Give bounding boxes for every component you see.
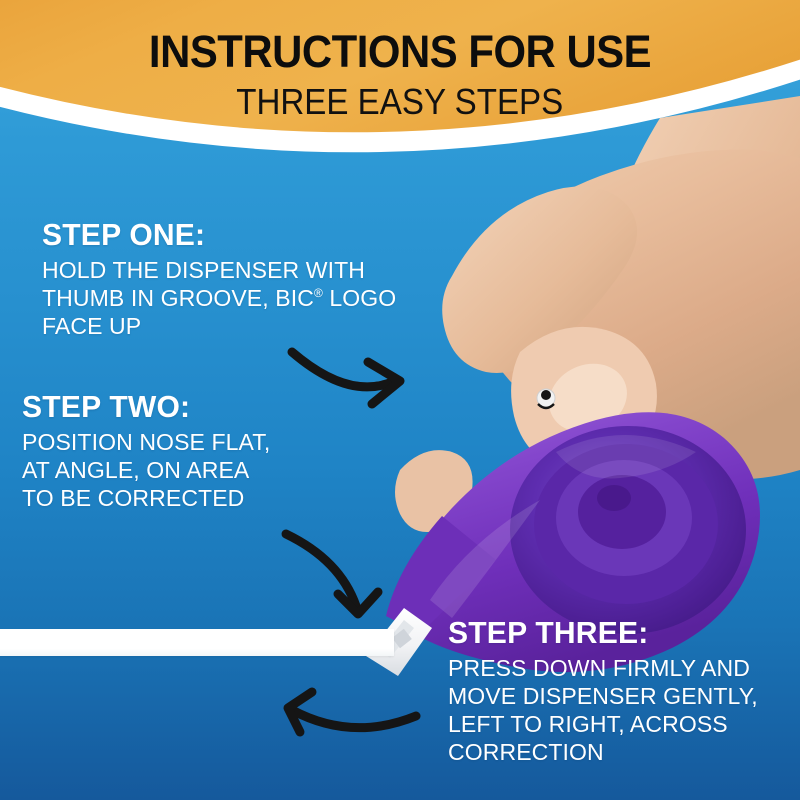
step-three-line-1: PRESS DOWN FIRMLY AND	[448, 654, 758, 682]
bic-logo-mark	[537, 389, 555, 408]
infographic-canvas: INSTRUCTIONS FOR USE THREE EASY STEPS ST…	[0, 0, 800, 800]
step-three-line-4: CORRECTION	[448, 738, 758, 766]
step-one-line-2-text: THUMB IN GROOVE, BIC® LOGO	[42, 285, 396, 311]
step-two-heading: STEP TWO:	[22, 390, 268, 424]
step-one-line-2: THUMB IN GROOVE, BIC® LOGO	[42, 284, 396, 312]
correction-tape-stripe	[0, 629, 394, 656]
step-two-body: POSITION NOSE FLAT, AT ANGLE, ON AREA TO…	[22, 428, 270, 512]
step-two-line-2: AT ANGLE, ON AREA	[22, 456, 270, 484]
step-three-line-3: LEFT TO RIGHT, ACROSS	[448, 710, 758, 738]
step-three-body: PRESS DOWN FIRMLY AND MOVE DISPENSER GEN…	[448, 654, 758, 766]
step-one-heading: STEP ONE:	[42, 218, 393, 252]
tape-reel-hub	[578, 475, 666, 549]
step-two-line-1: POSITION NOSE FLAT,	[22, 428, 270, 456]
step-one-block: STEP ONE: HOLD THE DISPENSER WITH THUMB …	[42, 218, 404, 340]
step-three-block: STEP THREE: PRESS DOWN FIRMLY AND MOVE D…	[448, 616, 764, 766]
registered-trademark-symbol: ®	[314, 286, 323, 300]
arrow-step-three	[288, 692, 416, 732]
step-one-line-1: HOLD THE DISPENSER WITH	[42, 256, 396, 284]
arrow-step-two	[286, 534, 378, 614]
step-three-line-2: MOVE DISPENSER GENTLY,	[448, 682, 758, 710]
step-three-heading: STEP THREE:	[448, 616, 755, 650]
step-one-body: HOLD THE DISPENSER WITH THUMB IN GROOVE,…	[42, 256, 396, 340]
header-banner: INSTRUCTIONS FOR USE THREE EASY STEPS	[0, 0, 800, 200]
step-two-block: STEP TWO: POSITION NOSE FLAT, AT ANGLE, …	[22, 390, 275, 512]
step-two-line-3: TO BE CORRECTED	[22, 484, 270, 512]
arrow-step-one	[292, 352, 400, 404]
tape-reel-center	[597, 485, 631, 511]
step-one-line-3: FACE UP	[42, 312, 396, 340]
